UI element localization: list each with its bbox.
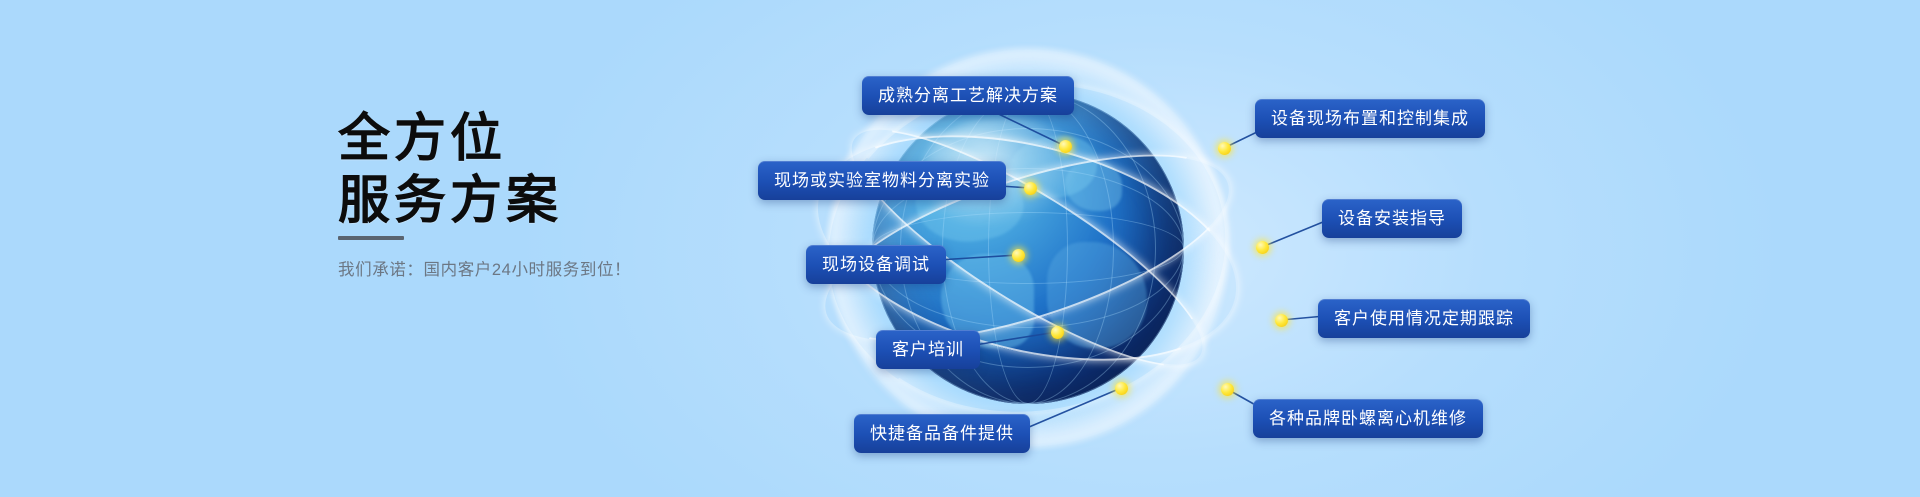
connection-dot: [1012, 249, 1025, 262]
connection-dot: [1059, 140, 1072, 153]
label-periodic-customer-usage-tracking[interactable]: 客户使用情况定期跟踪: [1318, 299, 1530, 338]
label-onsite-equipment-commissioning[interactable]: 现场设备调试: [806, 245, 946, 284]
label-onsite-or-lab-material-separation-test[interactable]: 现场或实验室物料分离实验: [758, 161, 1006, 200]
service-solutions-banner: 全方位 服务方案 我们承诺：国内客户24小时服务到位！: [0, 0, 1920, 497]
connection-dot: [1024, 182, 1037, 195]
label-decanter-centrifuge-repair-all-brands[interactable]: 各种品牌卧螺离心机维修: [1253, 399, 1483, 438]
connection-dot: [1221, 383, 1234, 396]
connection-dot: [1256, 241, 1269, 254]
label-customer-training[interactable]: 客户培训: [876, 330, 980, 369]
title-divider: [338, 236, 404, 240]
promise-text: 我们承诺：国内客户24小时服务到位！: [338, 256, 631, 280]
connection-dot: [1115, 382, 1128, 395]
headline-line-1: 全方位: [338, 108, 758, 170]
page-title: 全方位 服务方案: [338, 108, 758, 232]
label-fast-spare-parts-supply[interactable]: 快捷备品备件提供: [854, 414, 1030, 453]
label-equipment-layout-and-control-integration[interactable]: 设备现场布置和控制集成: [1255, 99, 1485, 138]
connection-dot: [1218, 142, 1231, 155]
connection-dot: [1051, 326, 1064, 339]
connection-dot: [1275, 314, 1288, 327]
headline-line-2: 服务方案: [338, 170, 758, 232]
label-mature-separation-process[interactable]: 成熟分离工艺解决方案: [862, 76, 1074, 115]
label-equipment-installation-guidance[interactable]: 设备安装指导: [1322, 199, 1462, 238]
